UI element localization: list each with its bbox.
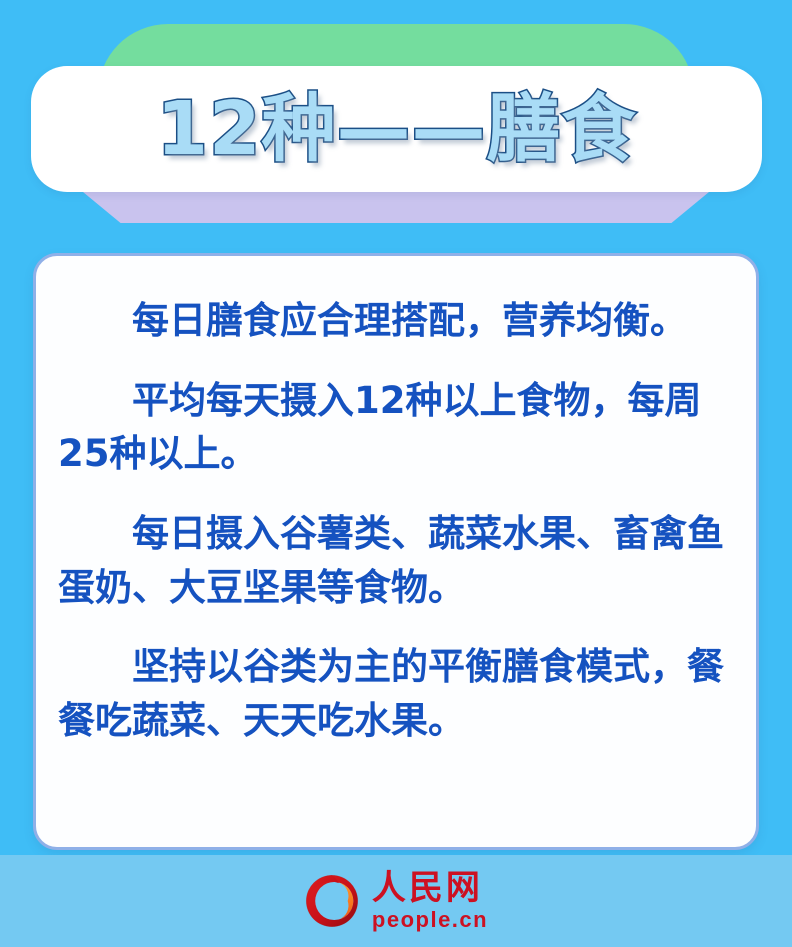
logo-chinese-name: 人民网 xyxy=(372,871,483,905)
body-paragraph-3: 每日摄入谷薯类、蔬菜水果、畜禽鱼蛋奶、大豆坚果等食物。 xyxy=(58,507,730,614)
people-cn-logo: 人民网 people.cn xyxy=(304,871,488,931)
title-card: 12种——膳食 xyxy=(31,66,762,192)
body-paragraph-1: 每日膳食应合理搭配，营养均衡。 xyxy=(58,294,730,348)
logo-text-block: 人民网 people.cn xyxy=(372,871,488,931)
body-paragraph-2: 平均每天摄入12种以上食物，每周25种以上。 xyxy=(58,374,730,481)
poster-root: 12种——膳食 每日膳食应合理搭配，营养均衡。 平均每天摄入12种以上食物，每周… xyxy=(0,0,792,947)
footer-bar: 人民网 people.cn xyxy=(0,855,792,947)
content-card: 每日膳食应合理搭配，营养均衡。 平均每天摄入12种以上食物，每周25种以上。 每… xyxy=(33,253,759,850)
logo-english-name: people.cn xyxy=(372,909,488,931)
purple-decorative-shape xyxy=(83,192,709,223)
body-paragraph-4: 坚持以谷类为主的平衡膳食模式，餐餐吃蔬菜、天天吃水果。 xyxy=(58,640,730,747)
page-title: 12种——膳食 xyxy=(157,92,637,166)
people-cn-swirl-icon xyxy=(304,873,360,929)
